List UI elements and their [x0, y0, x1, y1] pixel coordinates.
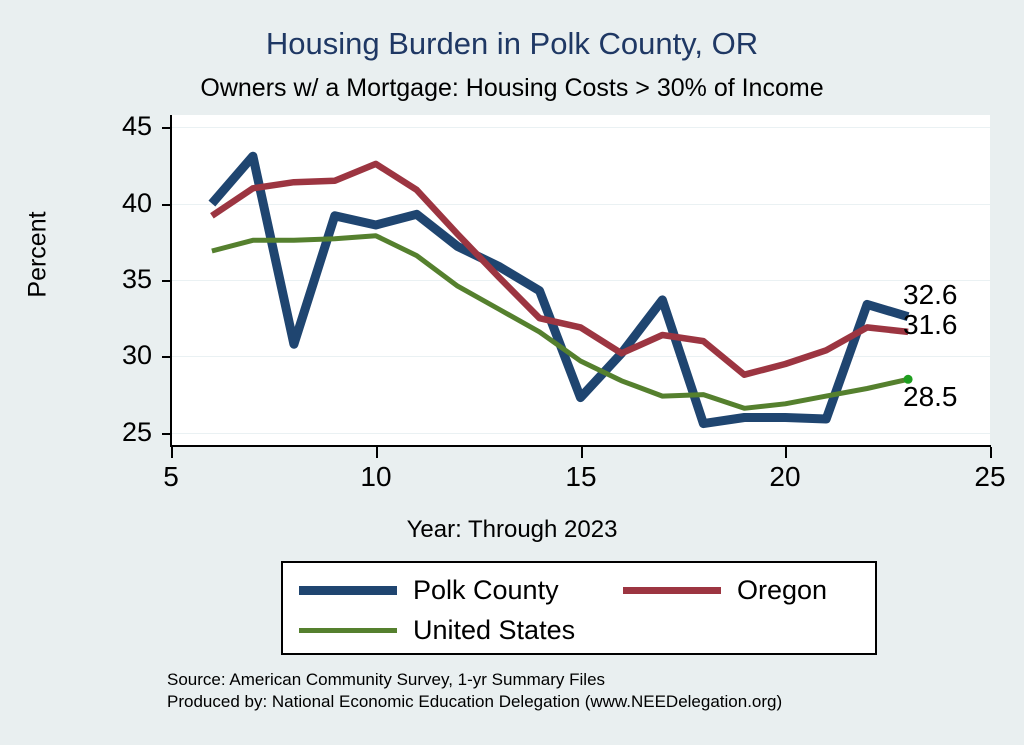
- series-line-polk-county: [212, 156, 908, 423]
- legend-item-oregon[interactable]: Oregon: [623, 575, 827, 606]
- end-label-oregon: 31.6: [903, 309, 958, 341]
- legend-label: United States: [413, 615, 575, 646]
- end-label-polk-county: 32.6: [903, 279, 958, 311]
- legend-swatch: [299, 628, 397, 633]
- legend-swatch: [299, 586, 397, 595]
- chart-figure: Housing Burden in Polk County, OR Owners…: [0, 0, 1024, 745]
- legend-item-polk-county[interactable]: Polk County: [299, 575, 559, 606]
- chart-legend: Polk CountyOregonUnited States: [281, 561, 877, 655]
- legend-label: Oregon: [737, 575, 827, 606]
- source-note: Source: American Community Survey, 1-yr …: [167, 670, 605, 690]
- legend-item-united-states[interactable]: United States: [299, 615, 575, 646]
- producer-note: Produced by: National Economic Education…: [167, 692, 782, 712]
- legend-label: Polk County: [413, 575, 559, 606]
- legend-swatch: [623, 587, 721, 594]
- end-label-united-states: 28.5: [903, 381, 958, 413]
